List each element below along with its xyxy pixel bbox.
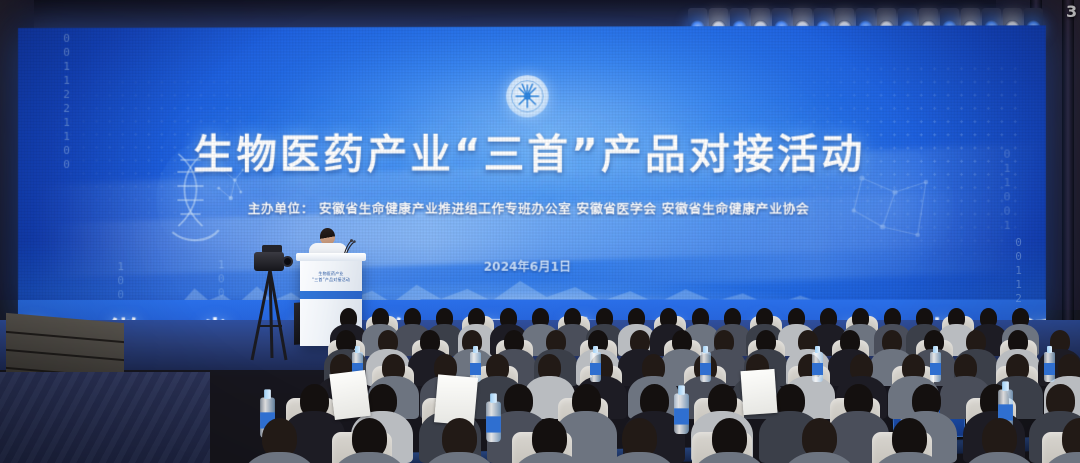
bottle-label: [590, 363, 601, 375]
ceiling-band: [0, 0, 1080, 28]
podium-plate: 生物医药产业 “三首”产品对接活动: [306, 265, 356, 287]
bottle-label: [674, 408, 689, 424]
water-bottle: [930, 352, 941, 382]
camera-lens-icon: [282, 256, 293, 267]
bottle-label: [700, 363, 711, 375]
bottle-label: [1044, 363, 1055, 375]
podium-plate-line-2: “三首”产品对接活动: [312, 277, 350, 282]
water-bottle: [1044, 352, 1055, 382]
water-bottle: [486, 402, 501, 443]
water-bottle: [674, 394, 689, 435]
water-bottle: [700, 352, 711, 382]
document-sheet: [329, 370, 370, 420]
conference-photo-scene: 0011221100 1001221100 10011001 011001 生物…: [0, 0, 1080, 463]
bottle-label: [486, 416, 501, 432]
corner-watermark: 3: [1066, 2, 1078, 21]
video-camera-icon: [254, 252, 284, 271]
led-screen: 0011221100 1001221100 10011001 011001 生物…: [18, 25, 1046, 328]
audience-area: 安徽省生物医药产业“三首”产品对接活动 谢炼梆: [0, 300, 1080, 463]
hall-pillar-far-right: [1062, 0, 1074, 320]
document-sheet: [741, 369, 778, 415]
podium-top-surface: [296, 253, 366, 261]
water-bottle: [812, 352, 823, 382]
event-title: 生物医药产业“三首”产品对接活动: [18, 121, 1046, 180]
bottle-label: [470, 363, 481, 375]
bottle-label: [812, 363, 823, 375]
podium-accent-stripe: [300, 291, 362, 299]
bottle-label: [930, 363, 941, 375]
event-organizers: 主办单位： 安徽省生命健康产业推进组工作专班办公室 安徽省医学会 安徽省生命健康…: [18, 198, 1046, 218]
podium-plate-line-1: 生物医药产业: [318, 271, 343, 276]
water-bottle: [590, 352, 601, 382]
radial-neuron-emblem-icon: [506, 75, 549, 117]
